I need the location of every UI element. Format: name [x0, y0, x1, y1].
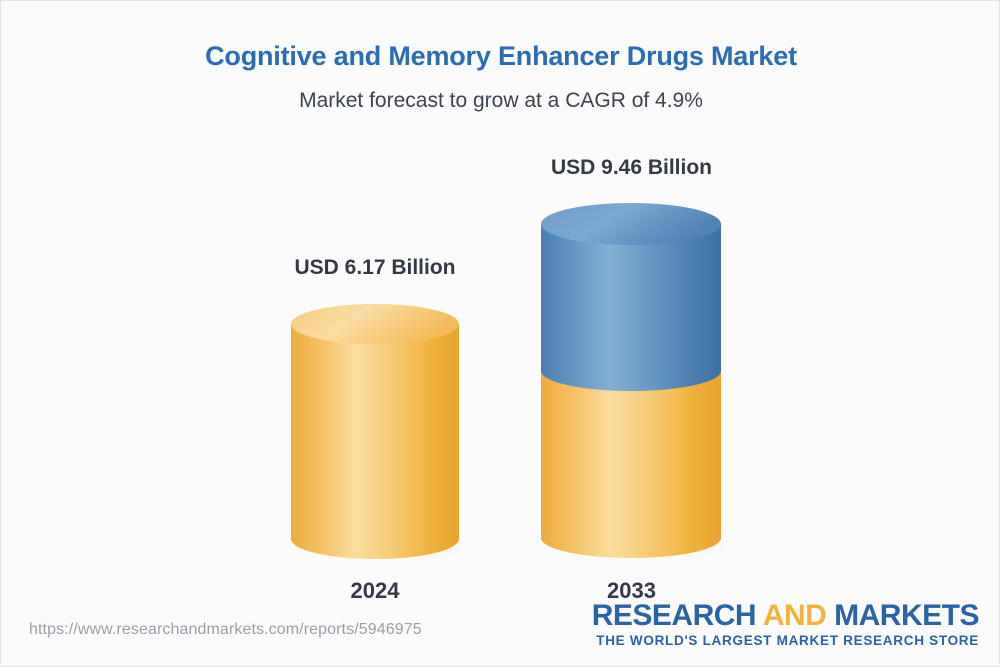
logo-word-research: RESEARCH [592, 599, 763, 632]
cylinder-2033 [539, 203, 724, 561]
cylinder-2033-shape [539, 203, 724, 561]
infographic-container: Cognitive and Memory Enhancer Drugs Mark… [0, 0, 1000, 667]
logo-tagline: THE WORLD'S LARGEST MARKET RESEARCH STOR… [592, 632, 979, 650]
bar-category-label-2024: 2024 [249, 578, 501, 604]
cylinder-2024-shape [289, 304, 461, 562]
logo-wordmark: RESEARCH AND MARKETS [592, 601, 979, 632]
bar-value-label-2024: USD 6.17 Billion [249, 256, 501, 280]
research-and-markets-logo[interactable]: RESEARCH AND MARKETS THE WORLD'S LARGEST… [592, 601, 979, 649]
logo-word-markets: MARKETS [834, 599, 979, 632]
cylinder-2024 [289, 304, 461, 562]
logo-word-and: AND [763, 599, 834, 632]
chart-plot-area: USD 6.17 Billion [1, 1, 1000, 601]
source-url[interactable]: https://www.researchandmarkets.com/repor… [29, 621, 422, 639]
bar-value-label-2033: USD 9.46 Billion [499, 156, 764, 180]
